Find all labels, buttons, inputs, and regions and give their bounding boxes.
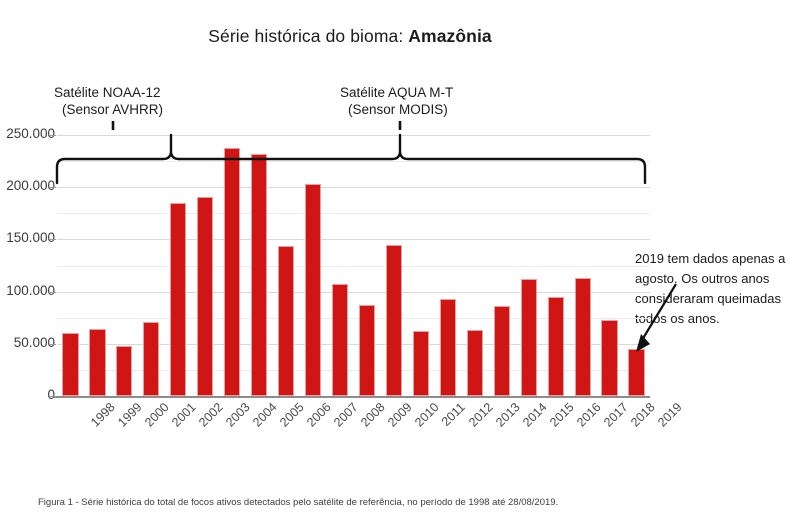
chart-title: Série histórica do bioma: Amazônia: [0, 26, 700, 47]
x-axis-line: [54, 396, 650, 398]
x-axis-label-2007: 2007: [331, 400, 361, 430]
bar-1998: [62, 333, 78, 396]
x-axis-label-2014: 2014: [520, 400, 550, 430]
x-axis-label-2008: 2008: [358, 400, 388, 430]
x-axis-label-2002: 2002: [196, 400, 226, 430]
chart-title-emphasis: Amazônia: [408, 26, 491, 46]
chart-title-prefix: Série histórica do bioma:: [208, 26, 408, 46]
bar-2015: [521, 279, 537, 396]
x-axis-label-2005: 2005: [277, 400, 307, 430]
x-axis-label-2001: 2001: [169, 400, 199, 430]
annotation-satellite-aqua: Satélite AQUA M-T (Sensor MODIS): [340, 84, 453, 118]
annotation-note-2019-line3: consideraram queimadas: [635, 289, 790, 309]
annotation-satellite-noaa: Satélite NOAA-12 (Sensor AVHRR): [54, 84, 163, 118]
y-axis-tick-label: 250.000: [0, 126, 55, 141]
bar-2001: [143, 322, 159, 396]
x-axis-label-2018: 2018: [628, 400, 658, 430]
annotation-note-2019-line4: todos os anos.: [635, 309, 790, 329]
bar-series: [57, 130, 650, 397]
bar-2002: [170, 203, 186, 396]
bar-2010: [386, 245, 402, 396]
y-axis-tick-label: 100.000: [0, 283, 55, 298]
bar-2011: [413, 331, 429, 396]
x-axis-label-2009: 2009: [385, 400, 415, 430]
bar-2008: [332, 284, 348, 396]
x-axis-label-2013: 2013: [493, 400, 523, 430]
x-axis-label-2006: 2006: [304, 400, 334, 430]
bar-2014: [494, 306, 510, 396]
x-axis-label-2000: 2000: [143, 400, 173, 430]
y-axis-tick-mark: [50, 239, 56, 240]
annotation-satellite-aqua-line2: (Sensor MODIS): [340, 101, 453, 118]
x-axis-label-2010: 2010: [412, 400, 442, 430]
y-axis-tick-label: 200.000: [0, 178, 55, 193]
bar-2004: [224, 148, 240, 396]
annotation-satellite-aqua-line1: Satélite AQUA M-T: [340, 85, 453, 100]
y-axis-tick-mark: [50, 396, 56, 397]
annotation-satellite-noaa-line2: (Sensor AVHRR): [54, 101, 163, 118]
bar-2003: [197, 197, 213, 396]
y-axis-tick-label: 0: [0, 387, 55, 402]
plot-area: [57, 130, 650, 397]
annotation-note-2019-line1: 2019 tem dados apenas a: [635, 249, 790, 269]
y-axis-tick-mark: [50, 135, 56, 136]
bar-2000: [116, 346, 132, 396]
x-axis-label-2015: 2015: [547, 400, 577, 430]
y-axis-tick-mark: [50, 344, 56, 345]
bar-2019: [628, 349, 644, 396]
x-axis-label-2019: 2019: [655, 400, 685, 430]
annotation-note-2019: 2019 tem dados apenas a agosto. Os outro…: [635, 249, 790, 329]
x-axis-label-2003: 2003: [223, 400, 253, 430]
annotation-note-2019-line2: agosto. Os outros anos: [635, 269, 790, 289]
x-axis-label-2004: 2004: [250, 400, 280, 430]
bar-2013: [467, 330, 483, 396]
y-axis-tick-label: 50.000: [0, 335, 55, 350]
y-axis-tick-mark: [50, 187, 56, 188]
bar-2017: [575, 278, 591, 396]
figure-container: Série histórica do bioma: Amazônia Satél…: [0, 0, 790, 527]
bar-2007: [305, 184, 321, 396]
x-axis-label-1998: 1998: [89, 400, 119, 430]
x-axis-label-2012: 2012: [466, 400, 496, 430]
bar-2009: [359, 305, 375, 396]
x-axis-label-2017: 2017: [601, 400, 631, 430]
bar-2016: [548, 297, 564, 396]
bar-2018: [601, 320, 617, 396]
bar-2005: [251, 154, 267, 396]
y-axis-tick-mark: [50, 292, 56, 293]
bar-2012: [440, 299, 456, 396]
x-axis-label-2011: 2011: [439, 400, 468, 429]
y-axis-tick-label: 150.000: [0, 230, 55, 245]
bar-1999: [89, 329, 105, 396]
bar-2006: [278, 246, 294, 396]
x-axis-label-1999: 1999: [116, 400, 146, 430]
annotation-satellite-noaa-line1: Satélite NOAA-12: [54, 85, 161, 100]
figure-caption: Figura 1 - Série histórica do total de f…: [38, 497, 558, 508]
x-axis-label-2016: 2016: [574, 400, 604, 430]
x-axis-labels: 1998199920002001200220032004200520062007…: [57, 400, 657, 455]
